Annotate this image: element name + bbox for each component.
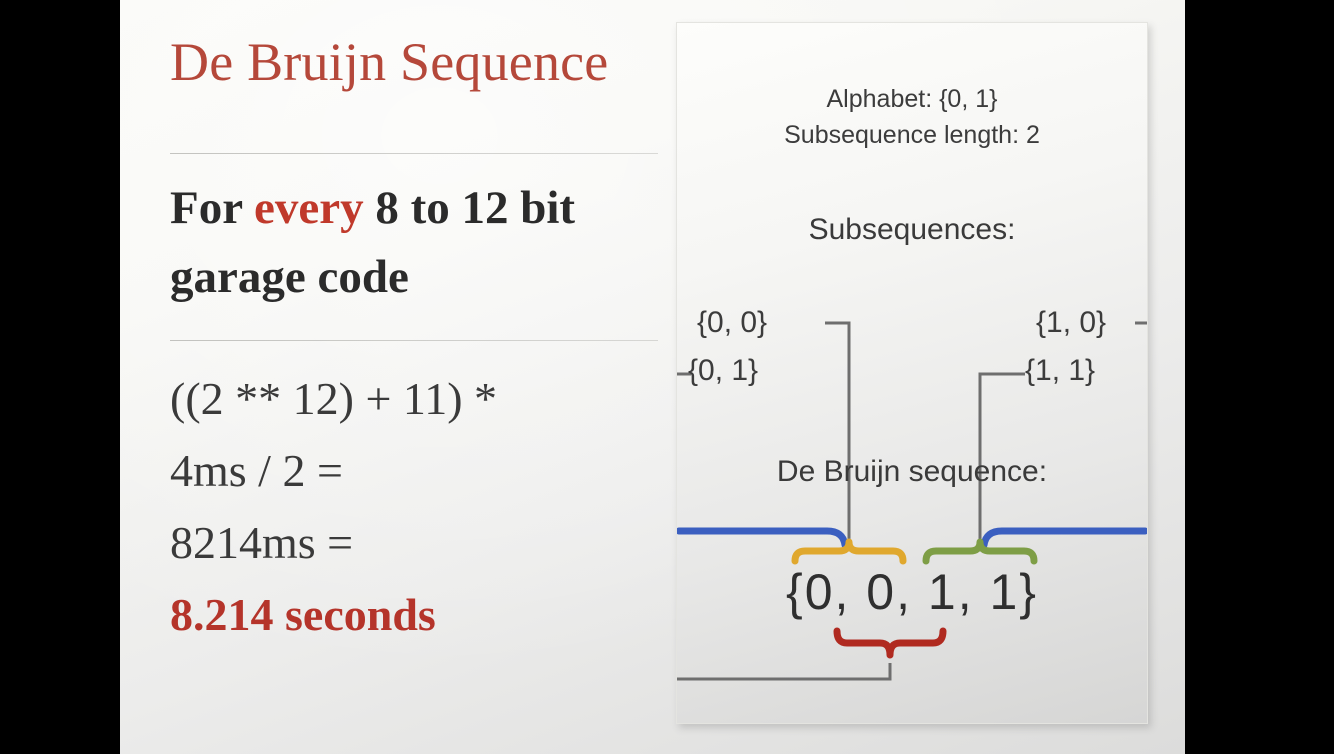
letterbox-right xyxy=(1185,0,1334,754)
brace-green xyxy=(926,542,1034,561)
formula-block: ((2 ** 12) + 11) * 4ms / 2 = 8214ms = 8.… xyxy=(170,363,690,650)
divider-middle xyxy=(170,340,658,341)
de-bruijn-diagram-panel: Alphabet: {0, 1} Subsequence length: 2 S… xyxy=(676,22,1148,724)
formula-line-2: 4ms / 2 = xyxy=(170,435,690,507)
letterbox-left xyxy=(0,0,120,754)
statement-text: For every 8 to 12 bit garage code xyxy=(170,174,640,312)
brace-blue-right xyxy=(984,531,1145,545)
statement-accent-word: every xyxy=(254,182,364,234)
page-title: De Bruijn Sequence xyxy=(170,34,690,91)
video-frame: De Bruijn Sequence For every 8 to 12 bit… xyxy=(0,0,1334,754)
left-column: De Bruijn Sequence For every 8 to 12 bit… xyxy=(170,34,690,650)
subsequence-braces xyxy=(677,23,1147,723)
formula-line-1: ((2 ** 12) + 11) * xyxy=(170,363,690,435)
brace-red xyxy=(837,631,943,655)
divider-top xyxy=(170,153,658,154)
statement-part-1: For xyxy=(170,182,254,234)
brace-yellow xyxy=(795,542,903,561)
formula-line-3: 8214ms = xyxy=(170,507,690,579)
presentation-slide: De Bruijn Sequence For every 8 to 12 bit… xyxy=(120,0,1185,754)
formula-result: 8.214 seconds xyxy=(170,579,690,651)
brace-blue-left xyxy=(679,531,845,545)
